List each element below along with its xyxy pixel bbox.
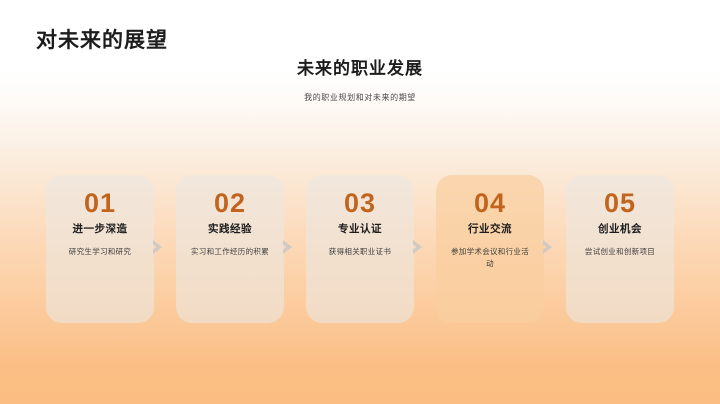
step-number: 05 — [572, 189, 668, 217]
step-title: 实践经验 — [182, 223, 278, 237]
step-description: 获得相关职业证书 — [312, 246, 408, 258]
step-card-02[interactable]: 02 实践经验 实习和工作经历的积累 — [176, 175, 284, 323]
chevron-right-icon — [150, 237, 166, 257]
process-steps-row: 01 进一步深造 研究生学习和研究 02 实践经验 实习和工作经历的积累 03 … — [0, 175, 720, 325]
chevron-right-icon — [410, 237, 426, 257]
step-number: 02 — [182, 189, 278, 217]
page-title: 对未来的展望 — [36, 24, 168, 54]
step-description: 参加学术会议和行业活动 — [442, 246, 538, 269]
step-title: 专业认证 — [312, 223, 408, 237]
step-number: 03 — [312, 189, 408, 217]
chevron-right-icon — [280, 237, 296, 257]
step-number: 04 — [442, 189, 538, 217]
step-number: 01 — [52, 189, 148, 217]
step-card-04[interactable]: 04 行业交流 参加学术会议和行业活动 — [436, 175, 544, 323]
step-description: 实习和工作经历的积累 — [182, 246, 278, 258]
step-card-05[interactable]: 05 创业机会 尝试创业和创新项目 — [566, 175, 674, 323]
section-subheading: 我的职业规划和对未来的期望 — [0, 92, 720, 103]
step-description: 尝试创业和创新项目 — [572, 246, 668, 258]
chevron-right-icon — [540, 237, 556, 257]
step-title: 进一步深造 — [52, 223, 148, 237]
slide-canvas: 对未来的展望 未来的职业发展 我的职业规划和对未来的期望 01 进一步深造 研究… — [0, 0, 720, 404]
step-title: 行业交流 — [442, 223, 538, 237]
heading-block: 未来的职业发展 我的职业规划和对未来的期望 — [0, 58, 720, 103]
step-title: 创业机会 — [572, 223, 668, 237]
step-card-03[interactable]: 03 专业认证 获得相关职业证书 — [306, 175, 414, 323]
step-description: 研究生学习和研究 — [52, 246, 148, 258]
section-heading: 未来的职业发展 — [0, 58, 720, 80]
step-card-01[interactable]: 01 进一步深造 研究生学习和研究 — [46, 175, 154, 323]
